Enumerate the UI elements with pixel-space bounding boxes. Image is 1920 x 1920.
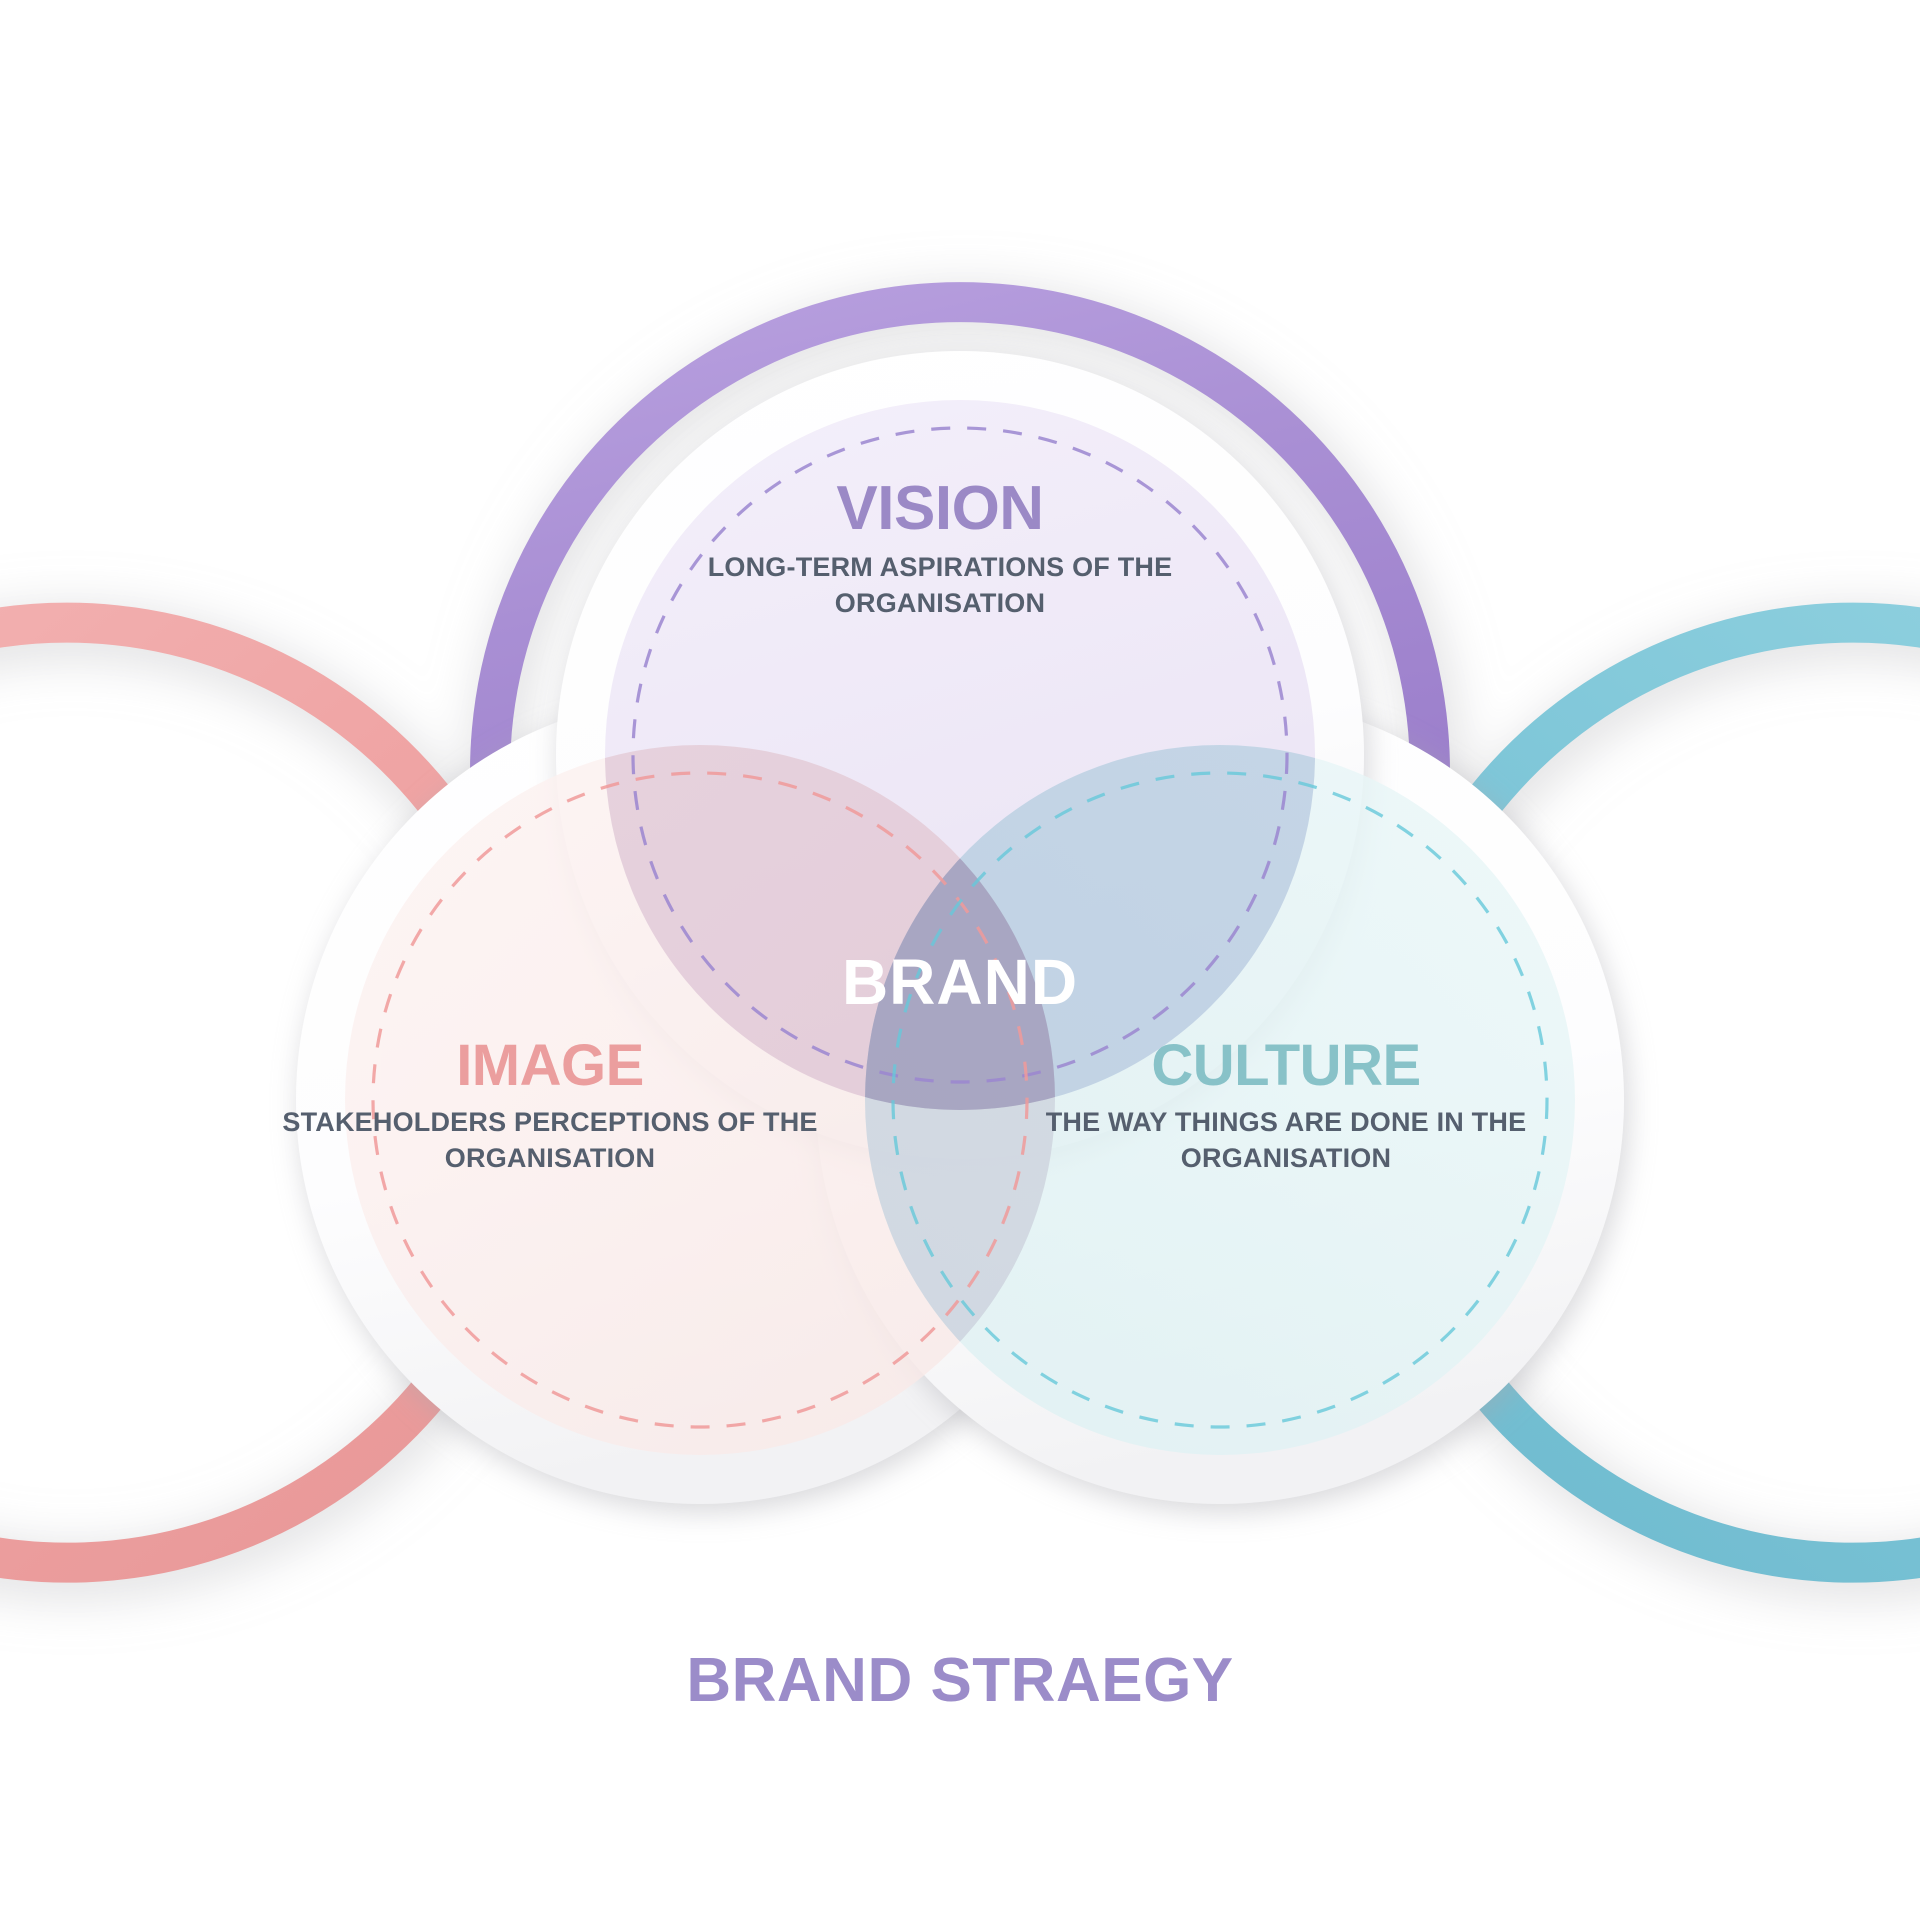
culture-heading: CULTURE	[1006, 1037, 1566, 1095]
infographic-canvas: VISION LONG-TERM ASPIRATIONS OF THE ORGA…	[0, 0, 1920, 1920]
image-description: STAKEHOLDERS PERCEPTIONS OF THE ORGANISA…	[270, 1105, 830, 1176]
vision-description: LONG-TERM ASPIRATIONS OF THE ORGANISATIO…	[660, 550, 1220, 621]
vision-heading: VISION	[660, 478, 1220, 540]
vision-label-block: VISION LONG-TERM ASPIRATIONS OF THE ORGA…	[660, 478, 1220, 621]
brand-center-label-block: BRAND	[700, 950, 1220, 1014]
image-heading: IMAGE	[270, 1037, 830, 1095]
culture-label-block: CULTURE THE WAY THINGS ARE DONE IN THE O…	[1006, 1037, 1566, 1176]
footer-title: BRAND STRAEGY	[360, 1650, 1560, 1712]
image-label-block: IMAGE STAKEHOLDERS PERCEPTIONS OF THE OR…	[270, 1037, 830, 1176]
culture-description: THE WAY THINGS ARE DONE IN THE ORGANISAT…	[1006, 1105, 1566, 1176]
brand-center-heading: BRAND	[700, 950, 1220, 1014]
